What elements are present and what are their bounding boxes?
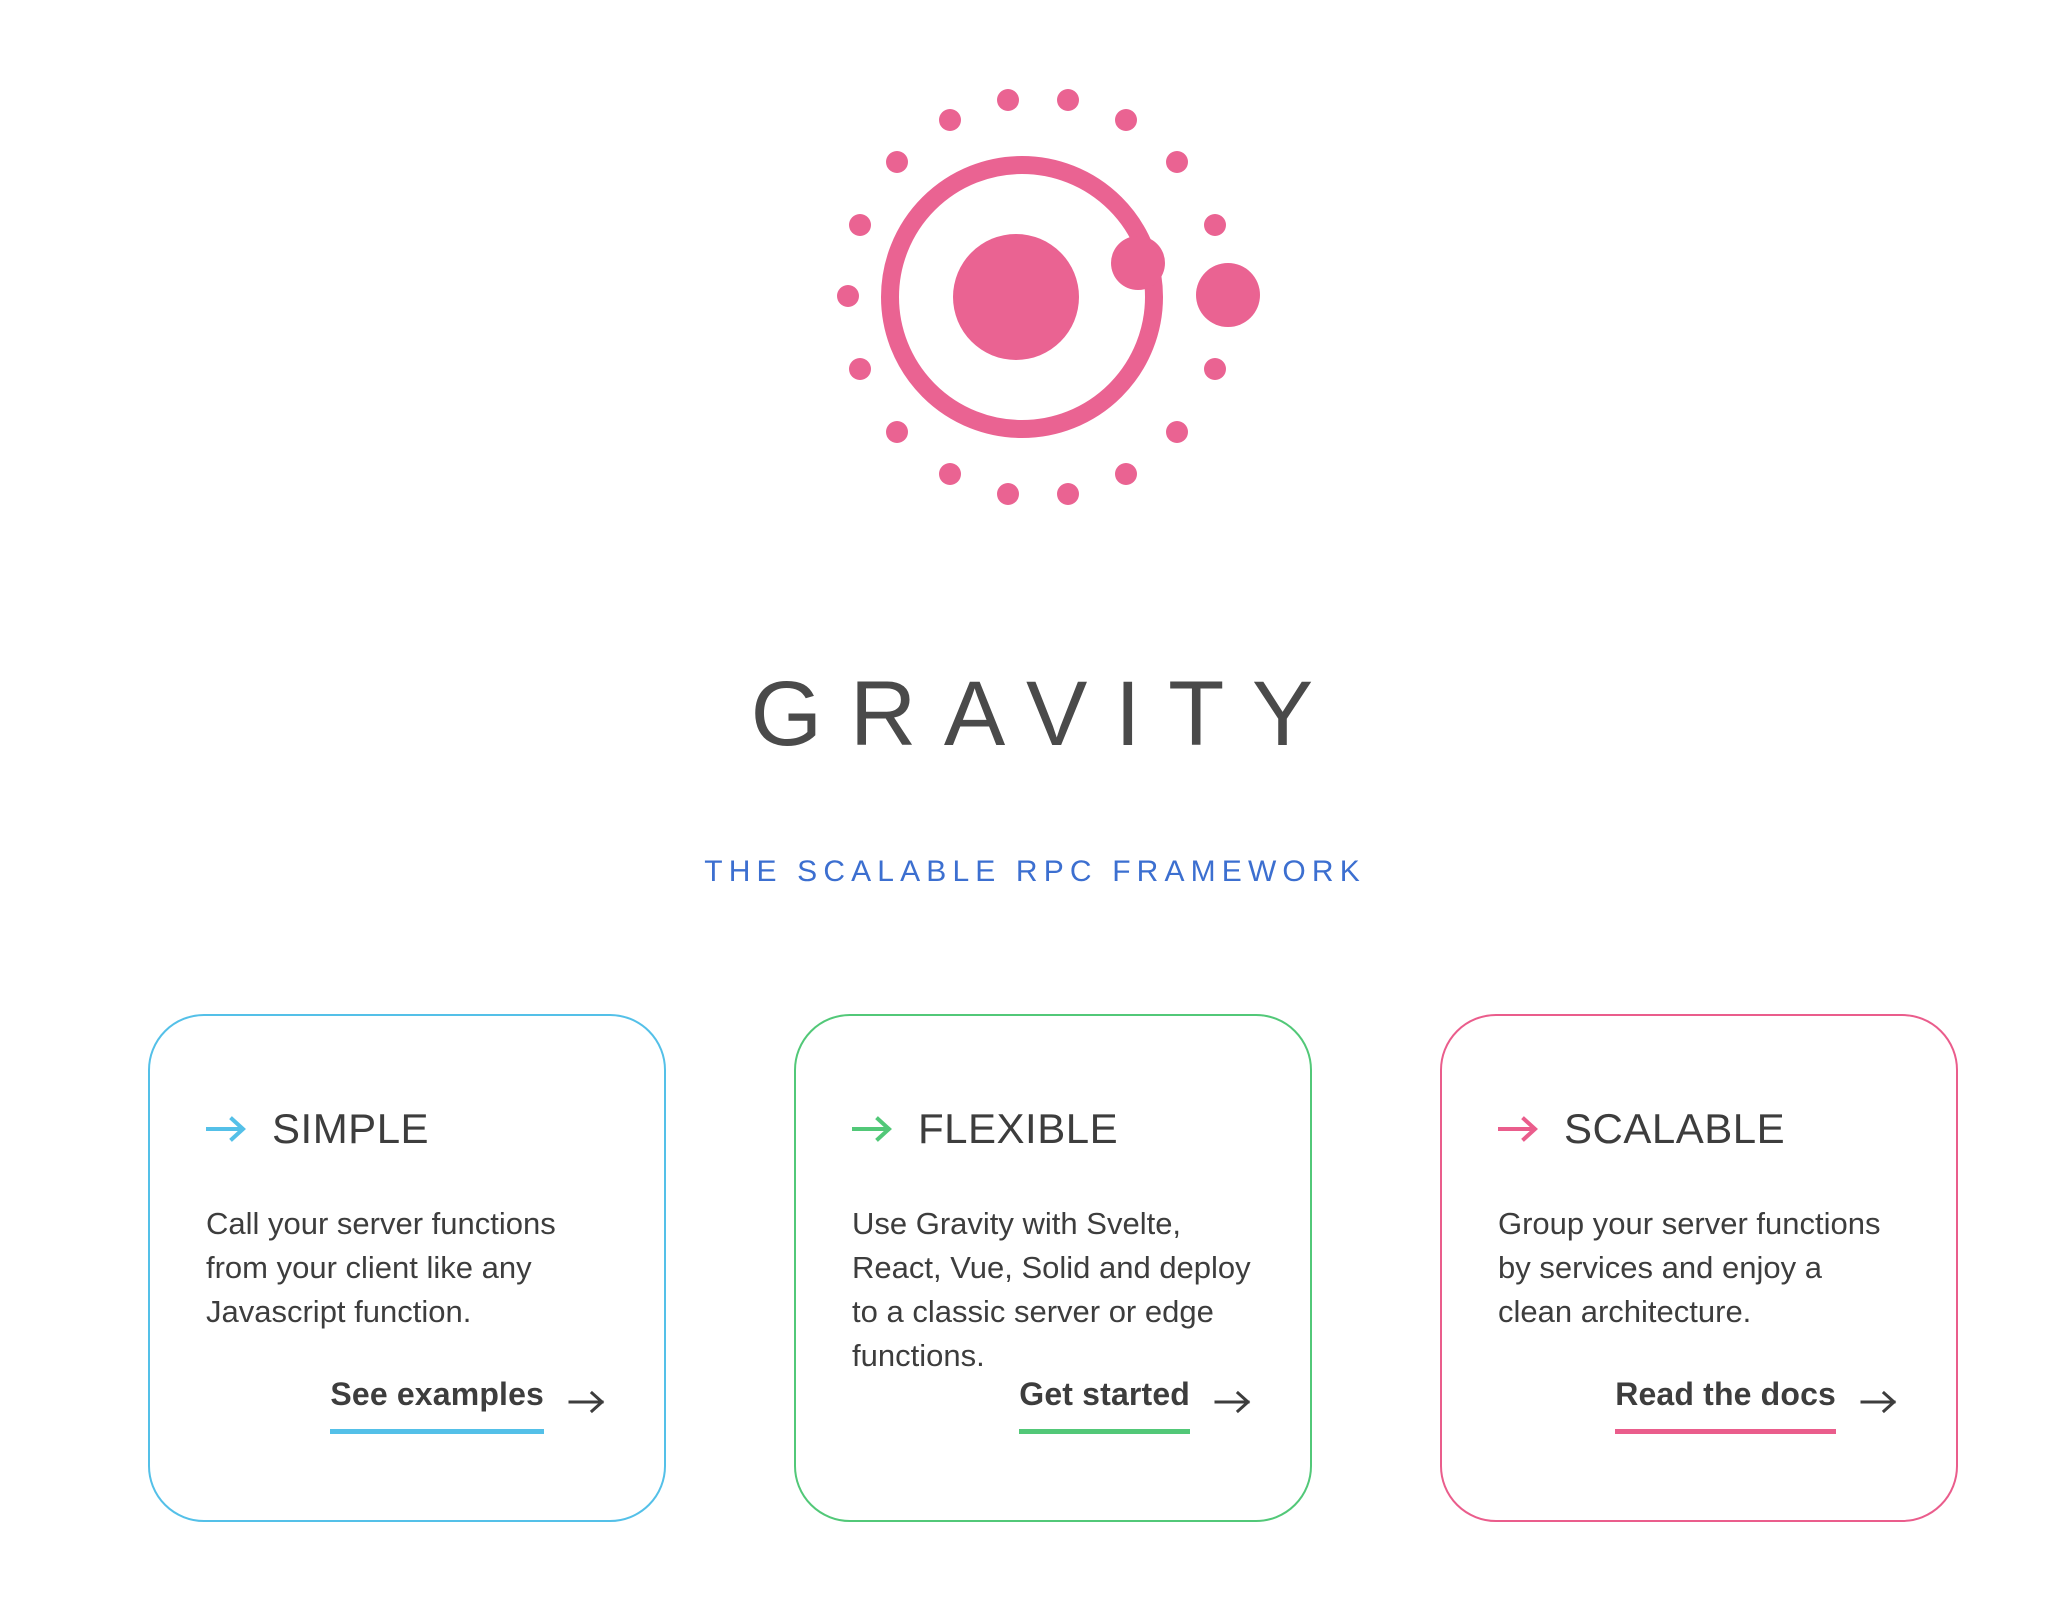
arrow-right-icon [852,1116,894,1142]
arrow-right-icon [568,1389,608,1415]
feature-card-flexible[interactable]: FLEXIBLE Use Gravity with Svelte, React,… [794,1014,1312,1522]
card-cta[interactable]: Read the docs [1615,1376,1900,1434]
arrow-right-icon [206,1116,248,1142]
get-started-link[interactable]: Get started [1019,1376,1190,1434]
card-body-text: Use Gravity with Svelte, React, Vue, Sol… [852,1202,1254,1378]
gravity-orbit-icon [772,82,1292,562]
card-cta[interactable]: See examples [330,1376,608,1434]
card-body-text: Call your server functions from your cli… [206,1202,608,1334]
feature-card-simple[interactable]: SIMPLE Call your server functions from y… [148,1014,666,1522]
card-heading-row: SCALABLE [1498,1104,1900,1154]
landing-page: GRAVITY THE SCALABLE RPC FRAMEWORK SIMPL… [0,0,2064,1620]
card-heading-row: SIMPLE [206,1104,608,1154]
card-title: SIMPLE [272,1108,429,1150]
logo-container [0,82,2064,562]
arrow-right-icon [1860,1389,1900,1415]
feature-card-list: SIMPLE Call your server functions from y… [148,1014,1958,1522]
card-title: FLEXIBLE [918,1108,1118,1150]
card-body-text: Group your server functions by services … [1498,1202,1900,1334]
card-title: SCALABLE [1564,1108,1785,1150]
read-the-docs-link[interactable]: Read the docs [1615,1376,1836,1434]
tagline: THE SCALABLE RPC FRAMEWORK [0,857,2064,887]
arrow-right-icon [1214,1389,1254,1415]
card-cta[interactable]: Get started [1019,1376,1254,1434]
feature-card-scalable[interactable]: SCALABLE Group your server functions by … [1440,1014,1958,1522]
see-examples-link[interactable]: See examples [330,1376,544,1434]
arrow-right-icon [1498,1116,1540,1142]
page-title: GRAVITY [0,668,2064,760]
card-heading-row: FLEXIBLE [852,1104,1254,1154]
